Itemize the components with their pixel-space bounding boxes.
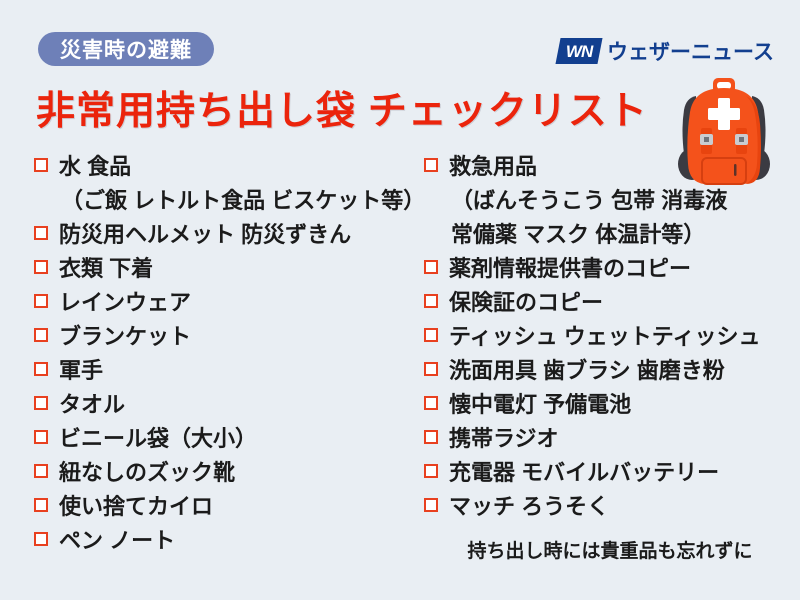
checkbox-icon[interactable] bbox=[424, 328, 438, 342]
checklist-item-label: ペン ノート bbox=[59, 526, 175, 556]
checkbox-icon[interactable] bbox=[424, 396, 438, 410]
checklist-item-label: 水 食品 bbox=[59, 152, 131, 182]
checklist-item-label: 軍手 bbox=[59, 356, 103, 386]
wn-logo-icon: WN bbox=[556, 38, 603, 64]
checklist-item-label: 紐なしのズック靴 bbox=[59, 458, 235, 488]
checkbox-icon[interactable] bbox=[34, 464, 48, 478]
checkbox-icon[interactable] bbox=[424, 158, 438, 172]
checkbox-icon[interactable] bbox=[34, 158, 48, 172]
checklist-column-left: 水 食品（ご飯 レトルト食品 ビスケット等）防災用ヘルメット 防災ずきん衣類 下… bbox=[34, 152, 424, 560]
checklist-item[interactable]: 紐なしのズック靴 bbox=[34, 458, 424, 492]
checklist-item-label: 衣類 下着 bbox=[59, 254, 153, 284]
checklist-item[interactable]: 充電器 モバイルバッテリー bbox=[424, 458, 796, 492]
checklist-item-label: レインウェア bbox=[59, 288, 191, 318]
checklist-item[interactable]: 救急用品 bbox=[424, 152, 796, 186]
checklist-item[interactable]: 保険証のコピー bbox=[424, 288, 796, 322]
checklist-item[interactable]: マッチ ろうそく bbox=[424, 492, 796, 526]
checklist-item[interactable]: 洗面用具 歯ブラシ 歯磨き粉 bbox=[424, 356, 796, 390]
checklist-item[interactable]: 衣類 下着 bbox=[34, 254, 424, 288]
checklist-item-detail: （ばんそうこう 包帯 消毒液 bbox=[424, 186, 796, 220]
checkbox-icon[interactable] bbox=[34, 532, 48, 546]
checklist-item[interactable]: 軍手 bbox=[34, 356, 424, 390]
checkbox-icon[interactable] bbox=[424, 464, 438, 478]
checkbox-icon[interactable] bbox=[34, 396, 48, 410]
checkbox-icon[interactable] bbox=[34, 328, 48, 342]
checklist-item[interactable]: 携帯ラジオ bbox=[424, 424, 796, 458]
checklist-item[interactable]: ペン ノート bbox=[34, 526, 424, 560]
checklist-item[interactable]: ビニール袋（大小） bbox=[34, 424, 424, 458]
brand-name: ウェザーニュース bbox=[607, 36, 774, 66]
checkbox-icon[interactable] bbox=[424, 260, 438, 274]
checkbox-icon[interactable] bbox=[34, 260, 48, 274]
category-badge: 災害時の避難 bbox=[38, 32, 214, 66]
checklist-item-label: マッチ ろうそく bbox=[449, 492, 609, 522]
checklist-item-label: タオル bbox=[59, 390, 125, 420]
wn-logo-text: WN bbox=[566, 43, 592, 60]
checkbox-icon[interactable] bbox=[424, 362, 438, 376]
checklist-item[interactable]: 薬剤情報提供書のコピー bbox=[424, 254, 796, 288]
checkbox-icon[interactable] bbox=[34, 362, 48, 376]
checklist-item-label: 救急用品 bbox=[449, 152, 537, 182]
checklist-item-label: 使い捨てカイロ bbox=[59, 492, 213, 522]
checklist: 水 食品（ご飯 レトルト食品 ビスケット等）防災用ヘルメット 防災ずきん衣類 下… bbox=[0, 152, 800, 600]
checkbox-icon[interactable] bbox=[424, 498, 438, 512]
checklist-item[interactable]: タオル bbox=[34, 390, 424, 424]
checklist-item-detail: （ご飯 レトルト食品 ビスケット等） bbox=[34, 186, 424, 220]
checklist-item-label: 携帯ラジオ bbox=[449, 424, 559, 454]
checkbox-icon[interactable] bbox=[34, 226, 48, 240]
checklist-item-label: 懐中電灯 予備電池 bbox=[449, 390, 631, 420]
checklist-item-label: 防災用ヘルメット 防災ずきん bbox=[59, 220, 351, 250]
checklist-item-label: ビニール袋（大小） bbox=[59, 424, 257, 454]
checkbox-icon[interactable] bbox=[424, 430, 438, 444]
checklist-item[interactable]: ティッシュ ウェットティッシュ bbox=[424, 322, 796, 356]
checkbox-icon[interactable] bbox=[34, 498, 48, 512]
checklist-item-label: ティッシュ ウェットティッシュ bbox=[449, 322, 760, 352]
checkbox-icon[interactable] bbox=[34, 430, 48, 444]
checklist-item-label: 充電器 モバイルバッテリー bbox=[449, 458, 719, 488]
checklist-item[interactable]: 懐中電灯 予備電池 bbox=[424, 390, 796, 424]
category-badge-label: 災害時の避難 bbox=[60, 34, 192, 64]
checklist-item[interactable]: 防災用ヘルメット 防災ずきん bbox=[34, 220, 424, 254]
checklist-item-label: 保険証のコピー bbox=[449, 288, 603, 318]
checklist-item-detail: 常備薬 マスク 体温計等） bbox=[424, 220, 796, 254]
checklist-item[interactable]: ブランケット bbox=[34, 322, 424, 356]
checklist-column-right: 救急用品（ばんそうこう 包帯 消毒液常備薬 マスク 体温計等）薬剤情報提供書のコ… bbox=[424, 152, 796, 526]
checklist-item[interactable]: 水 食品 bbox=[34, 152, 424, 186]
checklist-item-label: 薬剤情報提供書のコピー bbox=[449, 254, 691, 284]
footer-note: 持ち出し時には貴重品も忘れずに bbox=[424, 536, 796, 563]
checklist-item[interactable]: レインウェア bbox=[34, 288, 424, 322]
checkbox-icon[interactable] bbox=[34, 294, 48, 308]
checklist-item-label: ブランケット bbox=[59, 322, 191, 352]
checklist-item-label: 洗面用具 歯ブラシ 歯磨き粉 bbox=[449, 356, 725, 386]
checklist-item[interactable]: 使い捨てカイロ bbox=[34, 492, 424, 526]
brand-logo: WN ウェザーニュース bbox=[558, 36, 774, 66]
page-title: 非常用持ち出し袋 チェックリスト bbox=[36, 80, 648, 136]
checkbox-icon[interactable] bbox=[424, 294, 438, 308]
